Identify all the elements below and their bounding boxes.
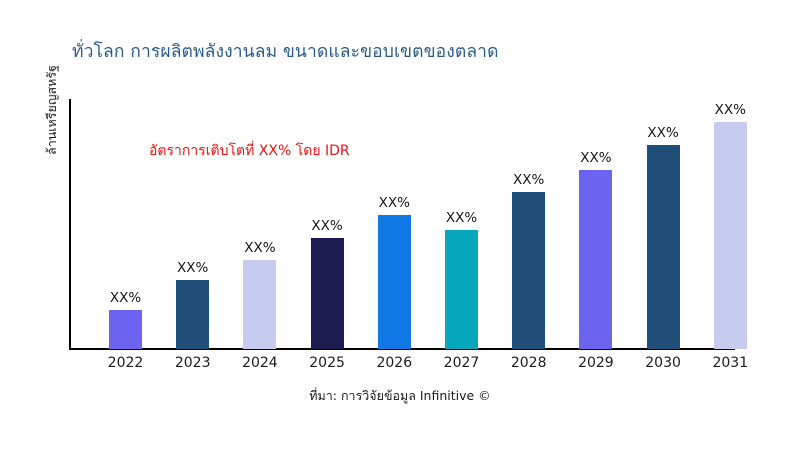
x-tick-label-2026: 2026 (364, 355, 424, 371)
bar-value-label: XX% (446, 210, 477, 226)
x-tick-label-2022: 2022 (96, 355, 156, 371)
x-tick-labels: 2022202320242025202620272028202920302031 (69, 355, 800, 377)
bar-value-label: XX% (311, 218, 342, 234)
x-tick-label-2027: 2027 (432, 355, 492, 371)
bar[interactable] (378, 215, 411, 349)
bar-value-label: XX% (513, 172, 544, 188)
bar[interactable] (243, 260, 276, 349)
x-tick-label-2028: 2028 (499, 355, 559, 371)
bar-value-label: XX% (715, 102, 746, 118)
bars-layer: XX%XX%XX%XX%XX%XX%XX%XX%XX%XX% (69, 99, 800, 349)
x-tick-label-2023: 2023 (163, 355, 223, 371)
bar-value-label: XX% (244, 240, 275, 256)
x-tick-label-2031: 2031 (700, 355, 760, 371)
bar[interactable] (512, 192, 545, 349)
bar[interactable] (445, 230, 478, 349)
bar-value-label: XX% (580, 150, 611, 166)
bar-value-label: XX% (110, 290, 141, 306)
bar-value-label: XX% (177, 260, 208, 276)
bar[interactable] (109, 310, 142, 349)
bar-value-label: XX% (647, 125, 678, 141)
bar[interactable] (579, 170, 612, 349)
bar[interactable] (311, 238, 344, 349)
bar-value-label: XX% (379, 195, 410, 211)
source-note: ที่มา: การวิจัยข้อมูล Infinitive © (0, 386, 800, 406)
x-tick-label-2025: 2025 (297, 355, 357, 371)
x-tick-label-2030: 2030 (633, 355, 693, 371)
y-axis-label: ล้านเหรียญสหรัฐ (42, 30, 62, 190)
bar[interactable] (647, 145, 680, 349)
bar[interactable] (714, 122, 747, 349)
chart-title: ทั่วโลก การผลิตพลังงานลม ขนาดและขอบเขตขอ… (72, 41, 499, 64)
x-tick-label-2029: 2029 (566, 355, 626, 371)
x-tick-label-2024: 2024 (230, 355, 290, 371)
bar[interactable] (176, 280, 209, 349)
